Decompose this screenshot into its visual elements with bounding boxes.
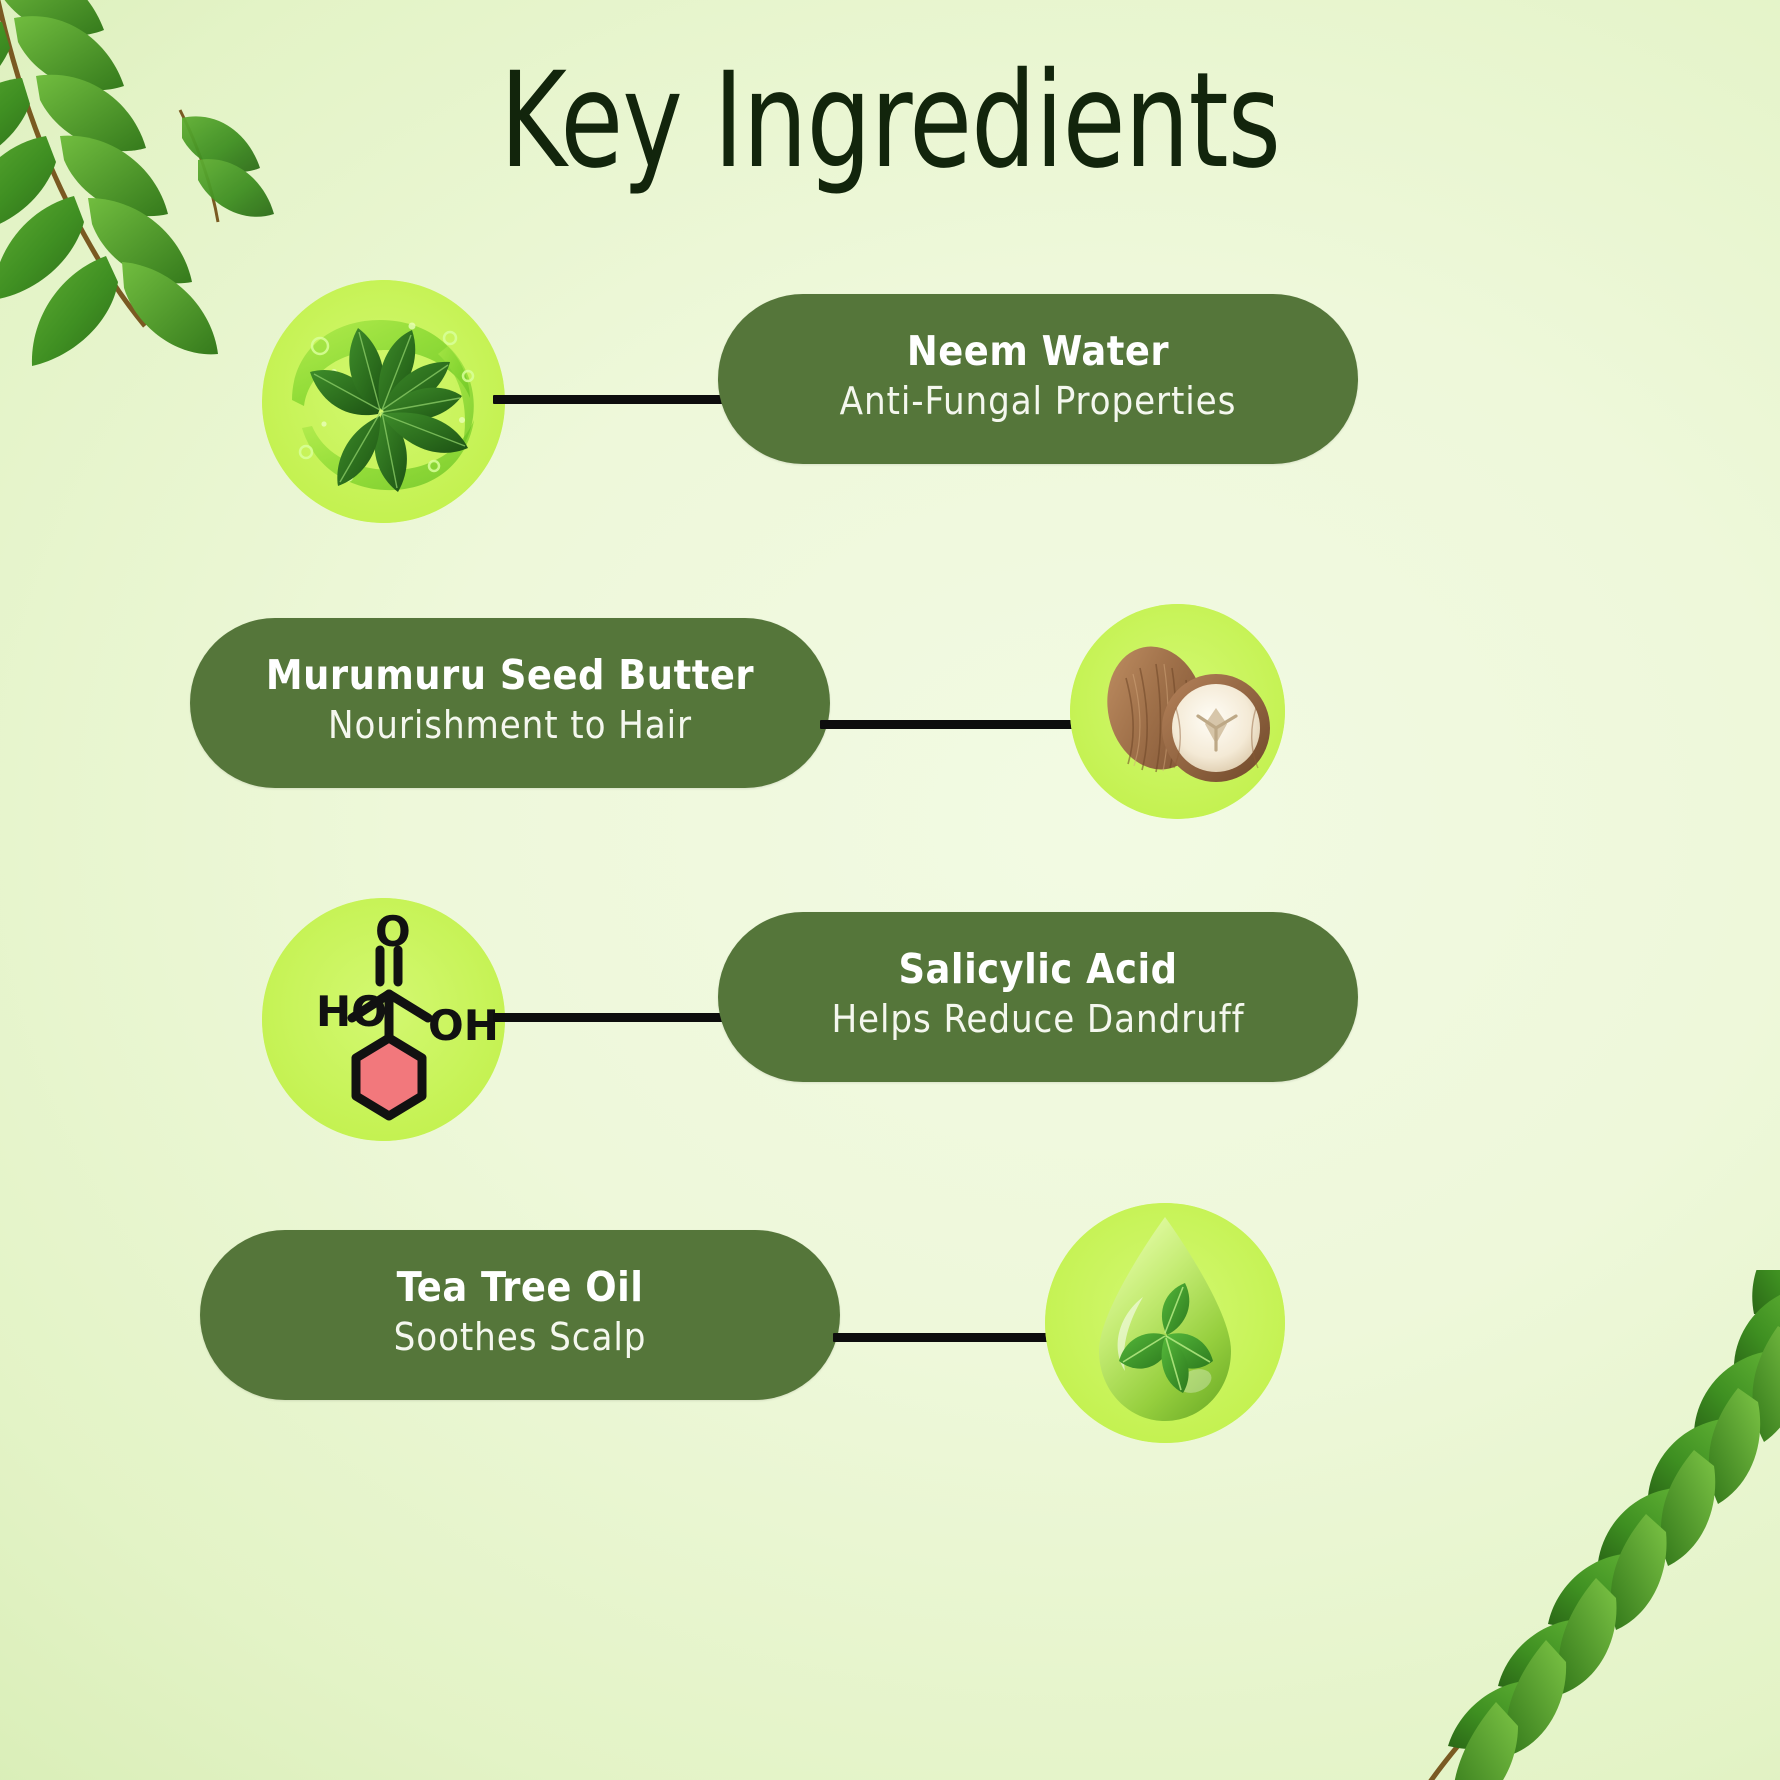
ingredient-card-neem-water[interactable]: Neem Water Anti-Fungal Properties — [718, 294, 1358, 464]
ingredient-row-neem-water: Neem Water Anti-Fungal Properties — [0, 262, 1780, 532]
neem-leaf-water-splash-icon — [262, 280, 505, 523]
connector-line-1 — [493, 395, 733, 404]
ingredient-benefit: Soothes Scalp — [394, 1314, 647, 1362]
connector-line-4 — [833, 1333, 1066, 1342]
murumuru-nut-icon — [1070, 604, 1285, 819]
ingredient-row-tea-tree-oil: Tea Tree Oil Soothes Scalp — [0, 1205, 1780, 1475]
ingredient-name: Salicylic Acid — [898, 944, 1177, 994]
ingredient-benefit: Anti-Fungal Properties — [840, 378, 1237, 426]
ingredient-row-murumuru-seed-butter: Murumuru Seed Butter Nourishment to Hair — [0, 588, 1780, 858]
ingredient-name: Murumuru Seed Butter — [266, 650, 754, 700]
infographic-canvas: Key Ingredients — [0, 0, 1780, 1780]
ingredient-card-murumuru-seed-butter[interactable]: Murumuru Seed Butter Nourishment to Hair — [190, 618, 830, 788]
molecule-label-ho: HO — [316, 987, 387, 1036]
connector-line-2 — [820, 720, 1085, 729]
ingredient-row-salicylic-acid: HO O OH Salicylic Acid Helps Reduce Dand… — [0, 880, 1780, 1150]
ingredient-name: Tea Tree Oil — [397, 1262, 644, 1312]
ingredient-card-salicylic-acid[interactable]: Salicylic Acid Helps Reduce Dandruff — [718, 912, 1358, 1082]
ingredient-card-tea-tree-oil[interactable]: Tea Tree Oil Soothes Scalp — [200, 1230, 840, 1400]
connector-line-3 — [493, 1013, 733, 1022]
ingredient-benefit: Nourishment to Hair — [328, 702, 692, 750]
ingredient-name: Neem Water — [907, 326, 1169, 376]
page-title: Key Ingredients — [125, 44, 1656, 200]
molecule-label-oh: OH — [428, 1001, 499, 1050]
ingredient-benefit: Helps Reduce Dandruff — [831, 996, 1244, 1044]
molecule-label-o: O — [375, 907, 411, 956]
oil-droplet-mint-leaf-icon — [1045, 1203, 1285, 1443]
salicylic-acid-molecule-icon: HO O OH — [262, 898, 505, 1141]
